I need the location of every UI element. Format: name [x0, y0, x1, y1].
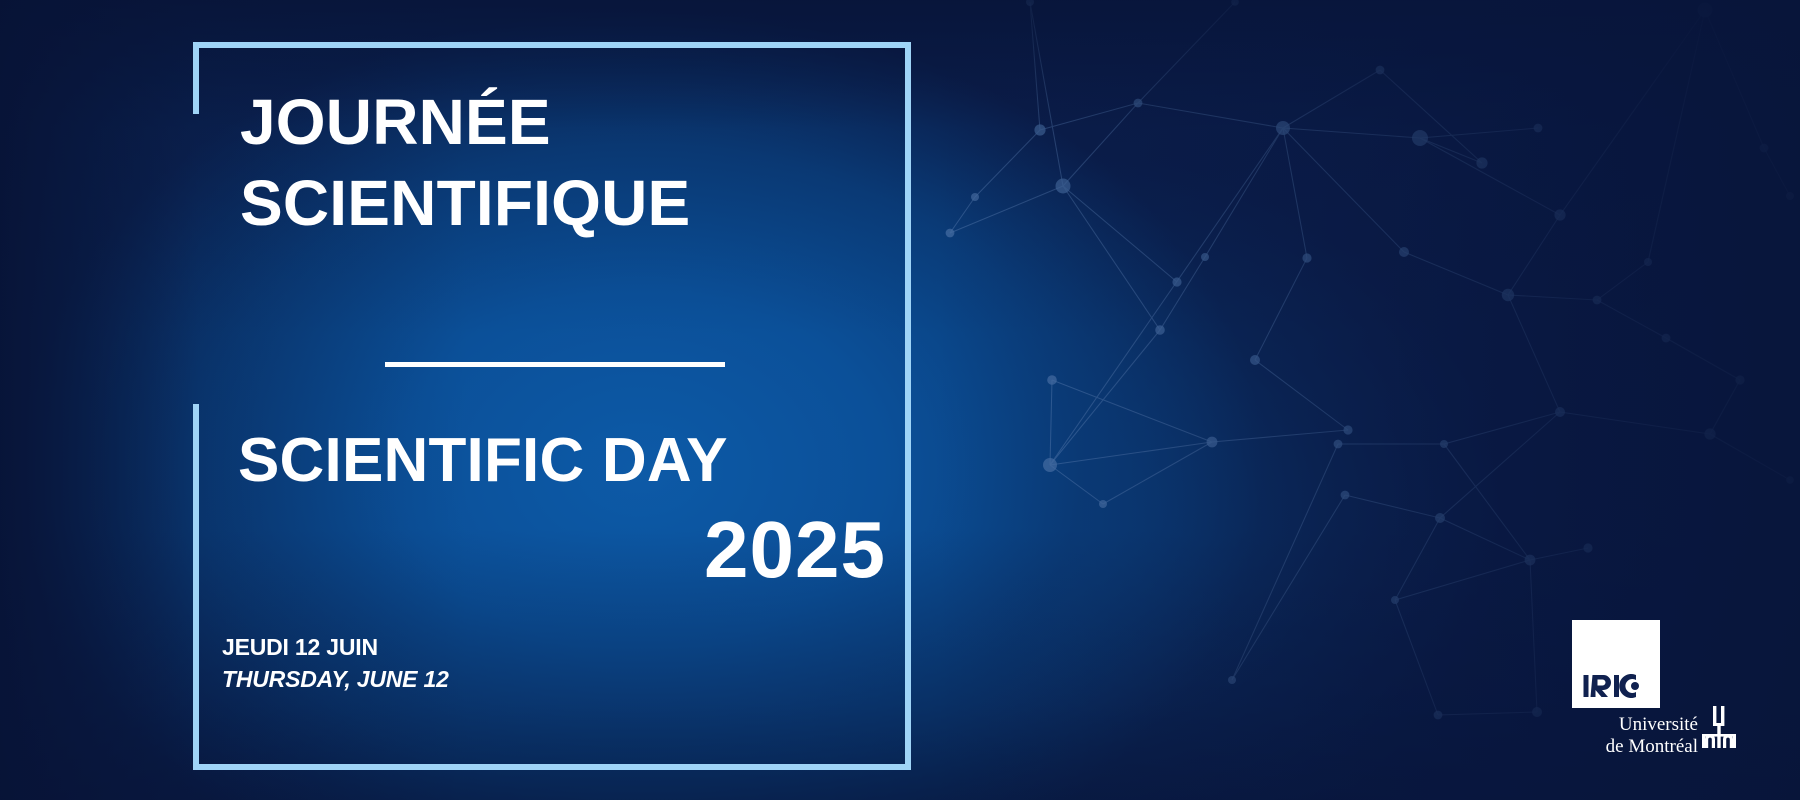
frame-right-rail — [905, 42, 911, 770]
udem-line-2: de Montréal — [1572, 736, 1698, 758]
event-year: 2025 — [238, 510, 898, 590]
banner-stage: JOURNÉE SCIENTIFIQUE SCIENTIFIC DAY 2025… — [0, 0, 1800, 800]
event-date-french: JEUDI 12 JUIN — [222, 632, 449, 664]
page-title: JOURNÉE SCIENTIFIQUE — [240, 82, 880, 243]
udem-logo: Université de Montréal — [1572, 714, 1772, 760]
frame-left-rail-lower — [193, 404, 199, 770]
title-block-english: SCIENTIFIC DAY 2025 — [238, 430, 898, 590]
udem-wordmark: Université de Montréal — [1572, 714, 1698, 759]
iric-logo-icon — [1572, 620, 1660, 708]
event-date-english: THURSDAY, JUNE 12 — [222, 664, 449, 696]
title-fr-line-2: SCIENTIFIQUE — [240, 163, 880, 244]
title-fr-line-1: JOURNÉE — [240, 82, 880, 163]
udem-crest-icon — [1702, 706, 1736, 748]
title-en: SCIENTIFIC DAY — [238, 430, 898, 492]
title-divider-rule — [385, 362, 725, 367]
logo-lockup: Université de Montréal — [1572, 620, 1772, 760]
title-block-french: JOURNÉE SCIENTIFIQUE — [240, 82, 880, 243]
udem-line-1: Université — [1572, 714, 1698, 736]
frame-top-rail — [193, 42, 911, 48]
event-date-block: JEUDI 12 JUIN THURSDAY, JUNE 12 — [222, 632, 449, 695]
frame-bottom-rail — [193, 764, 911, 770]
frame-left-rail-upper — [193, 42, 199, 114]
